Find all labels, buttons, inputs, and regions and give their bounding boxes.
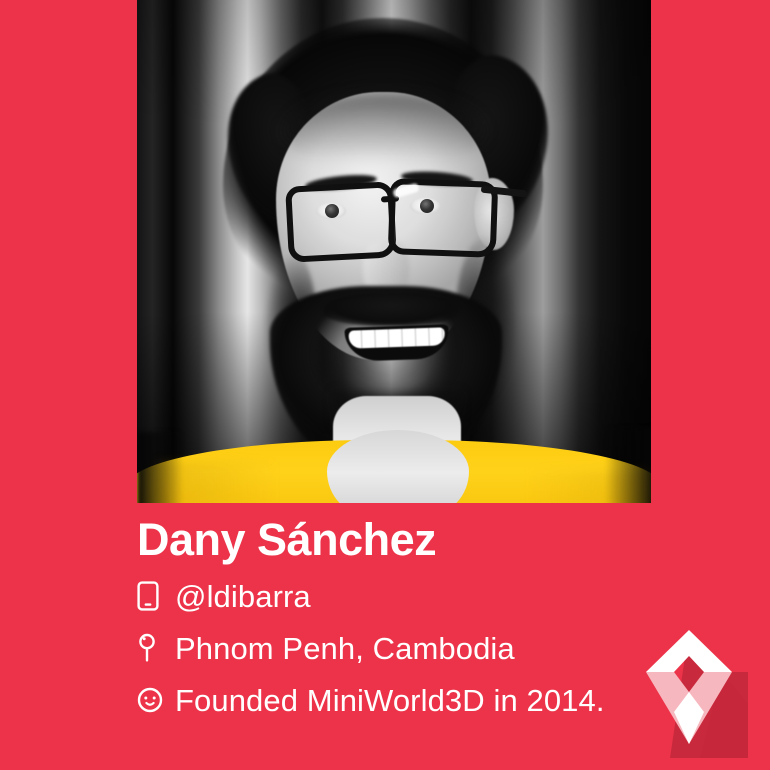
smiley-face-icon	[137, 687, 175, 713]
profile-info: Dany Sánchez @ldibarra Phnom Penh, Cambo…	[137, 513, 697, 726]
left-lens	[285, 181, 397, 263]
profile-handle: @ldibarra	[175, 581, 311, 612]
shoulder-shadow-left	[137, 432, 183, 503]
tshirt-neckline	[327, 430, 469, 503]
profile-card: Dany Sánchez @ldibarra Phnom Penh, Cambo…	[0, 0, 770, 770]
profile-bio: Founded MiniWorld3D in 2014.	[175, 685, 605, 716]
detail-row-location: Phnom Penh, Cambodia	[137, 622, 697, 674]
moustache	[323, 292, 459, 326]
profile-location: Phnom Penh, Cambodia	[175, 633, 515, 664]
mobile-phone-icon	[137, 581, 175, 611]
miniworld3d-monogram-logo	[630, 616, 748, 758]
shoulder-shadow-right	[605, 428, 651, 503]
profile-name: Dany Sánchez	[137, 513, 697, 566]
teeth	[349, 327, 446, 348]
detail-row-handle: @ldibarra	[137, 570, 697, 622]
portrait-figure	[137, 0, 651, 503]
profile-photo	[137, 0, 651, 503]
detail-row-bio: Founded MiniWorld3D in 2014.	[137, 674, 697, 726]
location-pin-icon	[137, 633, 175, 663]
